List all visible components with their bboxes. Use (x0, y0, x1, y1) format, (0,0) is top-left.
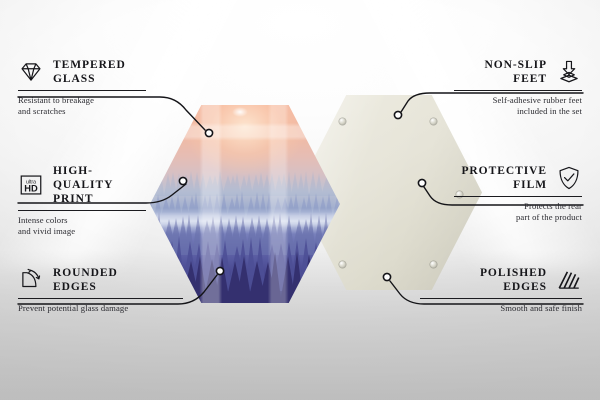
feature-title-line2: PRINT (53, 192, 146, 206)
feature-divider (454, 90, 582, 91)
ultra-hd-icon: ultra HD (18, 172, 44, 198)
infographic-canvas: TEMPERED GLASS Resistant to breakage and… (0, 0, 600, 400)
feature-title-line2: GLASS (53, 72, 126, 86)
feature-desc-line1: Intense colors (18, 215, 146, 226)
feature-non-slip-feet: NON-SLIP FEET Self-adhesive rubber feet … (454, 58, 582, 117)
feature-protective-film: PROTECTIVE FILM Protects the rear part o… (454, 164, 582, 223)
feature-desc-line1: Prevent potential glass damage (18, 303, 183, 314)
rubber-foot (339, 261, 346, 268)
feature-desc-line2: and scratches (18, 106, 146, 117)
feature-desc-line1: Resistant to breakage (18, 95, 146, 106)
feature-tempered-glass: TEMPERED GLASS Resistant to breakage and… (18, 58, 146, 117)
diamond-icon (18, 59, 44, 85)
feature-divider (18, 298, 183, 299)
feature-divider (18, 210, 146, 211)
feature-divider (454, 196, 582, 197)
feature-title-line2: FEET (484, 72, 547, 86)
feature-title-line1: ROUNDED (53, 266, 118, 280)
ultra-hd-icon-bottom-text: HD (24, 184, 38, 194)
feature-title-line1: NON-SLIP (484, 58, 547, 72)
rubber-foot-icon (556, 59, 582, 85)
polished-stripes-icon (556, 267, 582, 293)
feature-title-line1: POLISHED (480, 266, 547, 280)
rounded-corner-icon (18, 267, 44, 293)
feature-desc-line1: Protects the rear (454, 201, 582, 212)
feature-high-quality-print: ultra HD HIGH-QUALITY PRINT Intense colo… (18, 164, 146, 237)
feature-desc-line2: and vivid image (18, 226, 146, 237)
feature-title-line1: HIGH-QUALITY (53, 164, 146, 192)
feature-desc-line2: part of the product (454, 212, 582, 223)
feature-title-line2: EDGES (53, 280, 118, 294)
feature-title-line1: PROTECTIVE (461, 164, 547, 178)
feature-polished-edges: POLISHED EDGES Smooth and safe finish (420, 266, 582, 314)
feature-desc-line1: Smooth and safe finish (420, 303, 582, 314)
feature-title-line2: FILM (461, 178, 547, 192)
glass-sparkle (232, 107, 248, 117)
feature-desc-line1: Self-adhesive rubber feet (454, 95, 582, 106)
feature-title-line1: TEMPERED (53, 58, 126, 72)
feature-rounded-edges: ROUNDED EDGES Prevent potential glass da… (18, 266, 183, 314)
feature-divider (420, 298, 582, 299)
feature-desc-line2: included in the set (454, 106, 582, 117)
feature-divider (18, 90, 146, 91)
feature-title-line2: EDGES (480, 280, 547, 294)
shield-check-icon (556, 165, 582, 191)
